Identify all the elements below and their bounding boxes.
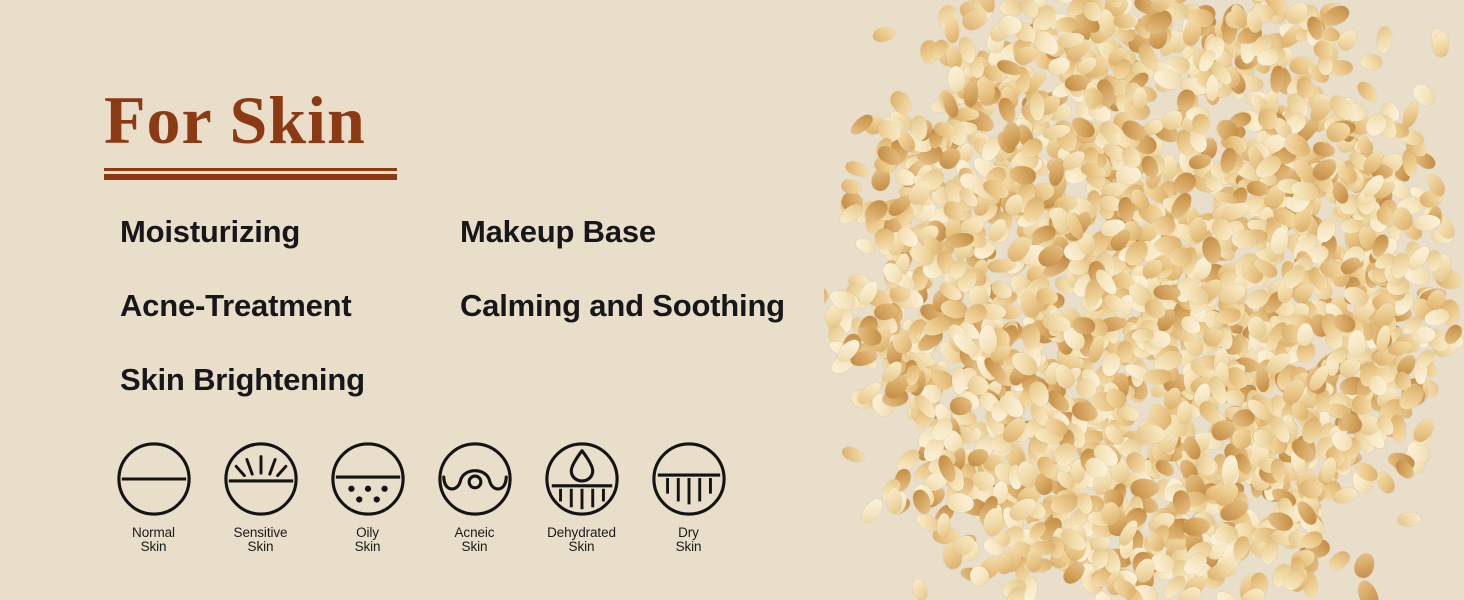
skin-type-label: Sensitive Skin (234, 526, 288, 554)
benefit-moisturizing: Moisturizing (120, 214, 460, 250)
skin-type-dry: Dry Skin (635, 440, 742, 554)
sesame-seed (871, 25, 897, 44)
sesame-seed (1092, 548, 1108, 568)
sesame-seed (1375, 26, 1392, 55)
sesame-seed (1351, 550, 1377, 579)
sesame-seed (1214, 525, 1237, 542)
content-column: For Skin Moisturizing Makeup Base Acne-T… (0, 0, 860, 600)
sesame-seed (1353, 79, 1380, 106)
sesame-seed (1222, 0, 1251, 3)
for-skin-banner: For Skin Moisturizing Makeup Base Acne-T… (0, 0, 1464, 600)
normal-skin-icon (115, 440, 193, 518)
oily-skin-icon (329, 440, 407, 518)
skin-type-label: Acneic Skin (455, 526, 495, 554)
sesame-seed (1354, 578, 1382, 600)
sensitive-skin-icon (222, 440, 300, 518)
skin-type-normal: Normal Skin (100, 440, 207, 554)
sesame-seed (1192, 114, 1210, 134)
benefits-list: Moisturizing Makeup Base Acne-Treatment … (120, 214, 860, 436)
sesame-seed (1055, 17, 1077, 32)
skin-type-list: Normal Skin Sensitive Skin (100, 440, 742, 554)
sesame-seed (1348, 330, 1366, 358)
skin-type-sensitive: Sensitive Skin (207, 440, 314, 554)
heading-block: For Skin (104, 86, 397, 180)
skin-type-label: Oily Skin (355, 526, 381, 554)
sesame-seed (1213, 588, 1242, 600)
sesame-seeds-image (824, 0, 1464, 600)
skin-type-label: Dry Skin (676, 526, 702, 554)
sesame-seed (996, 554, 1012, 575)
acneic-skin-icon (436, 440, 514, 518)
title-underline (104, 168, 397, 180)
sesame-seed (1334, 26, 1361, 54)
benefit-row: Acne-Treatment Calming and Soothing (120, 288, 860, 362)
benefit-makeup-base: Makeup Base (460, 214, 860, 250)
sesame-seed (1360, 54, 1383, 70)
sesame-seed (911, 578, 930, 600)
benefit-calming-and-soothing: Calming and Soothing (460, 288, 860, 324)
title-underline-thick (104, 174, 397, 180)
sesame-seed (1397, 512, 1421, 527)
skin-type-dehydrated: Dehydrated Skin (528, 440, 635, 554)
dry-skin-icon (650, 440, 728, 518)
sesame-seed (1026, 548, 1043, 573)
benefit-row: Skin Brightening (120, 362, 860, 436)
sesame-seed (1232, 230, 1257, 249)
sesame-seed (1169, 247, 1193, 267)
page-title: For Skin (104, 86, 397, 154)
sesame-seed (1326, 547, 1354, 573)
skin-type-label: Dehydrated Skin (547, 526, 616, 554)
benefit-acne-treatment: Acne-Treatment (120, 288, 460, 324)
sesame-seed (944, 17, 960, 44)
sesame-seed (952, 367, 966, 394)
skin-type-acneic: Acneic Skin (421, 440, 528, 554)
sesame-seed (858, 496, 886, 526)
dehydrated-skin-icon (543, 440, 621, 518)
skin-type-label: Normal Skin (132, 526, 175, 554)
benefit-row: Moisturizing Makeup Base (120, 214, 860, 288)
sesame-seed (1102, 502, 1120, 525)
skin-type-oily: Oily Skin (314, 440, 421, 554)
benefit-skin-brightening: Skin Brightening (120, 362, 460, 398)
sesame-seed (1003, 122, 1020, 148)
